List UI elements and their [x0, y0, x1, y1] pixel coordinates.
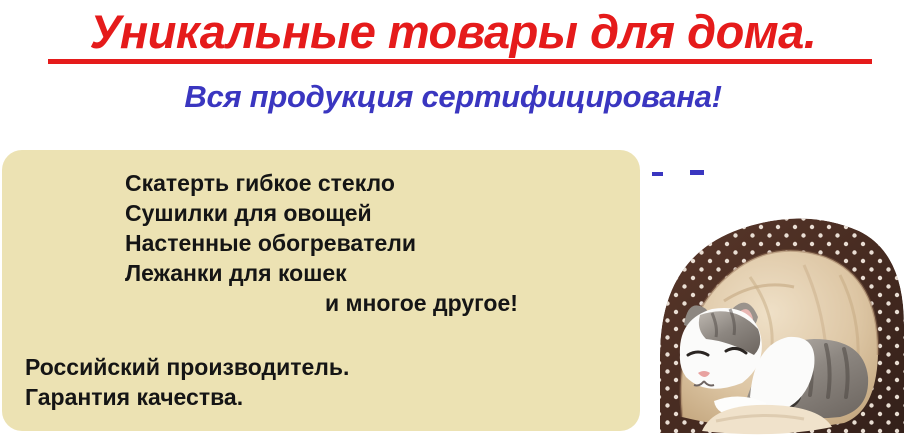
cat-in-pet-bed-photo [654, 205, 906, 439]
blue-dash-mark-left [652, 172, 663, 176]
list-item: Лежанки для кошек [125, 258, 518, 288]
list-item: Скатерть гибкое стекло [125, 168, 518, 198]
cat-photo-illustration [654, 205, 906, 439]
footer-line-quality: Гарантия качества. [25, 382, 349, 412]
blue-dash-mark-right [690, 170, 704, 175]
footer-line-manufacturer: Российский производитель. [25, 352, 349, 382]
subtitle-certification: Вся продукция сертифицирована! [0, 79, 906, 115]
list-item: Настенные обогреватели [125, 228, 518, 258]
list-item: Сушилки для овощей [125, 198, 518, 228]
page-title: Уникальные товары для дома. [0, 6, 906, 58]
panel-footer-text: Российский производитель. Гарантия качес… [25, 352, 349, 412]
headline-underline-rule [48, 59, 872, 64]
product-list: Скатерть гибкое стекло Сушилки для овоще… [125, 168, 518, 318]
content-panel: Скатерть гибкое стекло Сушилки для овоще… [2, 150, 640, 431]
list-item-and-more: и многое другое! [125, 288, 518, 318]
advertisement-banner: Уникальные товары для дома. Вся продукци… [0, 0, 906, 439]
